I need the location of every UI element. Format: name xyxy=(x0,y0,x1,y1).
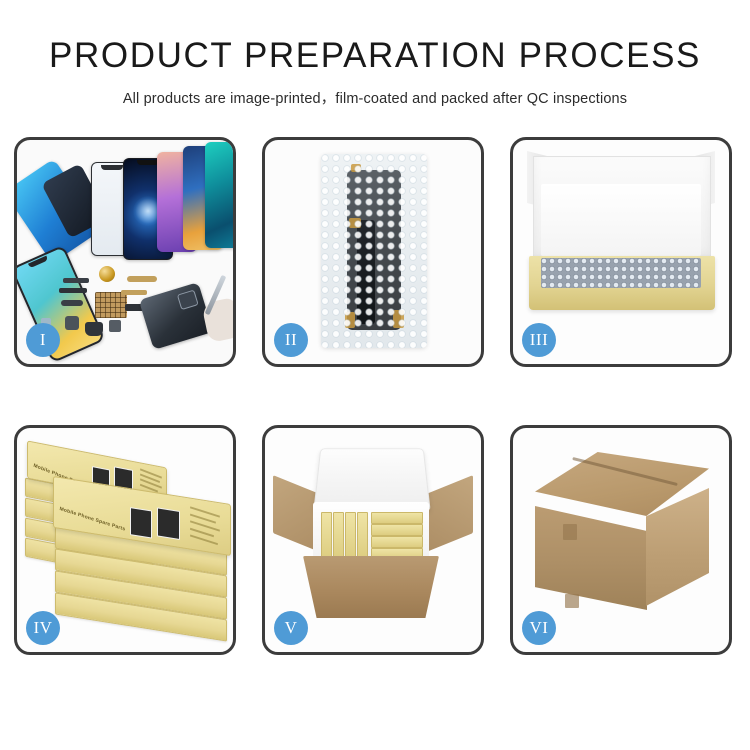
antenna-strip xyxy=(63,278,89,283)
carton-tape-upper xyxy=(563,524,577,540)
inner-box-flat-2 xyxy=(371,524,423,536)
box-label-front: Mobile Phone Spare Parts xyxy=(59,506,126,533)
page-title: PRODUCT PREPARATION PROCESS xyxy=(0,38,750,75)
bubble-wrap-bag xyxy=(321,154,427,348)
step-badge-2: II xyxy=(274,323,308,357)
inner-box-upright-3 xyxy=(345,512,356,560)
box-lid-screen-image-front-1 xyxy=(130,507,152,538)
inner-box-upright-4 xyxy=(357,512,368,560)
speaker-module-gold xyxy=(99,266,115,282)
camera-module xyxy=(109,320,121,332)
shipping-carton-body xyxy=(303,556,439,618)
process-step-card-3: III xyxy=(510,137,732,367)
battery-connector xyxy=(61,300,83,306)
step-badge-5: V xyxy=(274,611,308,645)
product-preparation-infographic: PRODUCT PREPARATION PROCESS All products… xyxy=(0,0,750,750)
vibration-motor xyxy=(65,316,79,330)
phone-rear-housing xyxy=(139,282,213,350)
carton-front-face xyxy=(535,506,647,610)
earpiece-speaker xyxy=(85,322,103,336)
phone-screen-teal xyxy=(205,142,233,248)
flex-cable-small xyxy=(121,290,147,295)
inner-box-flat-1 xyxy=(371,512,423,524)
flex-cable-gold xyxy=(127,276,157,282)
power-button-flex xyxy=(59,288,87,293)
inner-box-flat-3 xyxy=(371,536,423,548)
step-badge-6: VI xyxy=(522,611,556,645)
step-badge-4: IV xyxy=(26,611,60,645)
header: PRODUCT PREPARATION PROCESS All products… xyxy=(0,0,750,108)
bubble-wrapped-contents xyxy=(541,258,701,288)
process-step-card-1: I xyxy=(14,137,236,367)
step-badge-3: III xyxy=(522,323,556,357)
process-step-card-2: II xyxy=(262,137,484,367)
inner-box-upright-1 xyxy=(321,512,332,560)
bubble-texture xyxy=(321,154,427,348)
carton-tape-lower xyxy=(565,594,579,608)
process-step-card-5: V xyxy=(262,425,484,655)
step-badge-1: I xyxy=(26,323,60,357)
page-subtitle: All products are image-printed，film-coat… xyxy=(0,87,750,108)
process-step-card-6: VI xyxy=(510,425,732,655)
box-lid-text-line-1 xyxy=(140,468,162,478)
foam-sheet xyxy=(541,184,701,256)
inner-box-upright-2 xyxy=(333,512,344,560)
process-step-grid: I II xyxy=(14,137,736,655)
box-lid-screen-image-front-2 xyxy=(157,507,180,540)
process-step-card-4: Mobile Phone Spare Parts Mobile Phone Sp… xyxy=(14,425,236,655)
technician-hand xyxy=(201,297,233,343)
screw-grid-tray xyxy=(95,292,127,318)
